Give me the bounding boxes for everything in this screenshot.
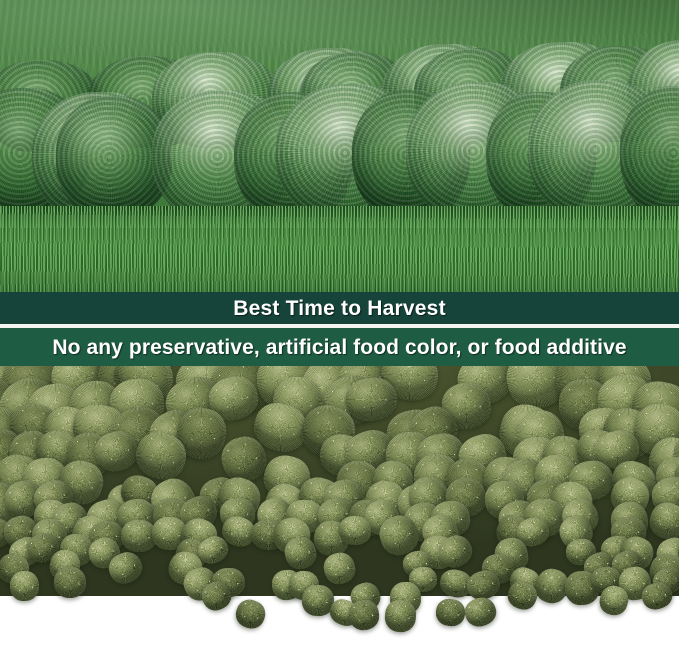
product-banner: Best Time to Harvest No any preservative… (0, 0, 679, 649)
grass-top-fringe (0, 206, 679, 228)
alfalfa-pellets-photo (0, 366, 679, 649)
hay-bale-field-photo (0, 0, 679, 292)
hay-pellet (53, 566, 86, 598)
headline-text: Best Time to Harvest (233, 298, 446, 319)
hay-pellet (338, 515, 372, 546)
hay-pellet (461, 594, 499, 630)
subheadline-band: No any preservative, artificial food col… (0, 328, 679, 366)
hay-pellet (347, 599, 380, 632)
foreground-grass (0, 206, 679, 292)
headline-band: Best Time to Harvest (0, 292, 679, 324)
hay-pellet (434, 597, 467, 629)
subheadline-text: No any preservative, artificial food col… (52, 337, 626, 358)
hay-pellet (10, 570, 40, 601)
hay-pellet (232, 596, 269, 633)
